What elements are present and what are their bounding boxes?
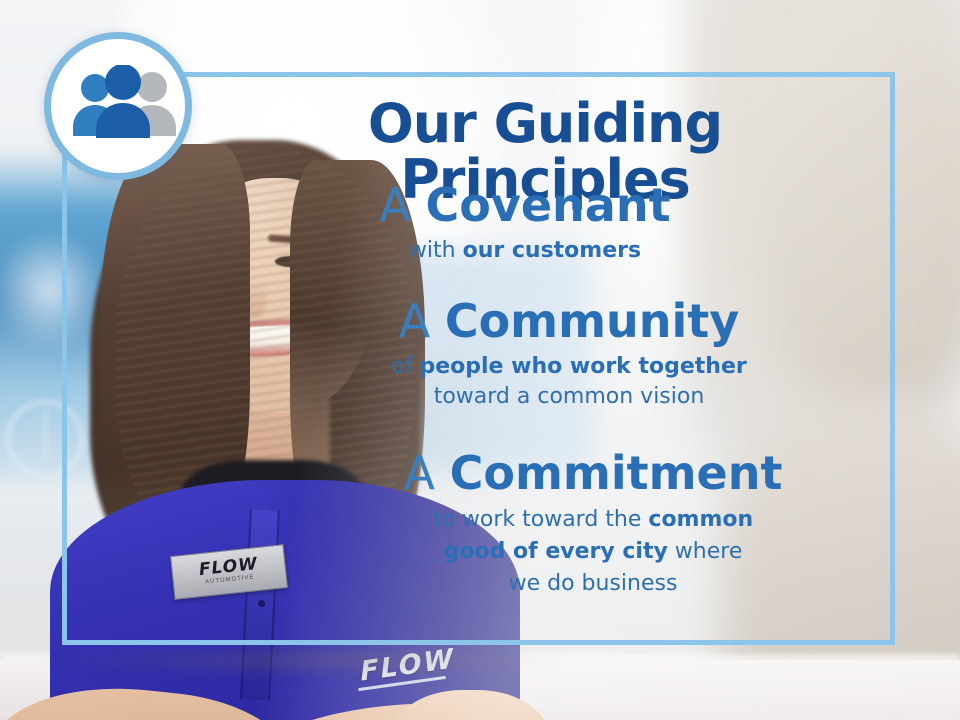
people-group-badge <box>44 32 192 180</box>
principle-subtext-line: we do business <box>306 568 880 600</box>
people-group-icon <box>69 65 177 139</box>
principle-commitment: A Commitment to work toward the common g… <box>306 446 880 600</box>
principle-keyword: Covenant <box>426 178 671 232</box>
principle-heading: A Community <box>258 294 880 348</box>
principle-subtext: with our customers <box>170 236 880 266</box>
principle-article: A <box>379 178 410 232</box>
principle-subtext-line: toward a common vision <box>258 382 880 412</box>
principle-subtext-line: good of every city where <box>306 536 880 568</box>
principle-article: A <box>404 446 435 500</box>
principle-subtext-tail: where <box>668 539 743 564</box>
principle-subtext-lead: with <box>409 238 463 263</box>
principle-subtext-emphasis: people who work together <box>419 354 746 379</box>
principle-keyword: Community <box>445 294 739 348</box>
principle-heading: A Covenant <box>170 178 880 232</box>
principle-subtext-line: of people who work together <box>258 352 880 382</box>
principles-list: A Covenant with our customers A Communit… <box>180 178 880 614</box>
principle-heading: A Commitment <box>306 446 880 500</box>
principle-subtext-line: to work toward the common <box>306 504 880 536</box>
principle-subtext-lead: to work toward the <box>433 507 649 532</box>
principle-subtext-emphasis: common <box>648 507 753 532</box>
principle-subtext-emphasis: our customers <box>463 238 642 263</box>
principle-subtext: of people who work together toward a com… <box>258 352 880 412</box>
principle-community: A Community of people who work together … <box>258 294 880 412</box>
principle-subtext-lead: of <box>391 354 419 379</box>
principle-article: A <box>399 294 430 348</box>
principle-covenant: A Covenant with our customers <box>170 178 880 266</box>
principle-subtext-emphasis: good of every city <box>444 539 668 564</box>
principle-keyword: Commitment <box>450 446 783 500</box>
principle-subtext: to work toward the common good of every … <box>306 504 880 600</box>
guiding-principles-graphic: FLOW AUTOMOTIVE FLOW Our Gu <box>0 0 960 720</box>
arm-shadow <box>40 645 580 675</box>
